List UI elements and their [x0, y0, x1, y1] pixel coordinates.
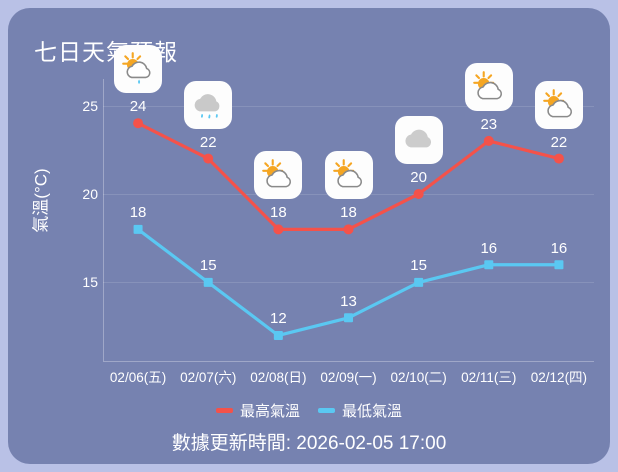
sun-cloud-icon — [465, 63, 513, 111]
point-value-label: 12 — [270, 310, 287, 327]
point-value-label: 22 — [200, 134, 217, 151]
sun-cloud-rain-icon — [114, 45, 162, 93]
data-point-marker[interactable] — [133, 118, 143, 128]
point-value-label: 20 — [410, 169, 427, 186]
legend-item[interactable]: 最低氣溫 — [318, 400, 402, 421]
point-value-label: 16 — [480, 240, 497, 257]
data-point-marker[interactable] — [344, 224, 354, 234]
x-axis-tick-label: 02/06(五) — [110, 366, 166, 386]
line-swatch-icon — [318, 408, 335, 413]
data-point-marker[interactable] — [414, 278, 423, 287]
data-point-marker[interactable] — [484, 136, 494, 146]
x-axis-tick-label: 02/10(二) — [391, 366, 447, 386]
x-axis-ticks: 02/06(五)02/07(六)02/08(日)02/09(一)02/10(二)… — [103, 366, 610, 388]
data-point-marker[interactable] — [554, 260, 563, 269]
data-point-marker[interactable] — [344, 313, 353, 322]
data-point-marker[interactable] — [204, 278, 213, 287]
data-point-marker[interactable] — [274, 331, 283, 340]
data-point-marker[interactable] — [134, 225, 143, 234]
legend-label: 最低氣溫 — [342, 400, 402, 421]
x-axis-tick-label: 02/12(四) — [531, 366, 587, 386]
sun-cloud-icon — [254, 151, 302, 199]
point-value-label: 13 — [340, 293, 357, 310]
point-value-label: 23 — [480, 116, 497, 133]
chart-plot: 氣溫(°C) 152025 — [8, 8, 610, 464]
data-point-marker[interactable] — [484, 260, 493, 269]
x-axis-tick-label: 02/11(三) — [461, 366, 516, 386]
point-value-label: 15 — [410, 257, 427, 274]
sun-cloud-icon — [325, 151, 373, 199]
rain-cloud-icon — [184, 81, 232, 129]
point-value-label: 22 — [551, 134, 568, 151]
data-point-marker[interactable] — [273, 224, 283, 234]
point-value-label: 18 — [340, 204, 357, 221]
point-value-label: 18 — [130, 204, 147, 221]
point-value-label: 24 — [130, 98, 147, 115]
legend-label: 最高氣溫 — [240, 400, 300, 421]
chart-legend: 最高氣溫最低氣溫 — [8, 400, 610, 421]
x-axis-tick-label: 02/09(一) — [320, 366, 376, 386]
x-axis-tick-label: 02/08(日) — [250, 366, 306, 386]
point-value-label: 18 — [270, 204, 287, 221]
legend-item[interactable]: 最高氣溫 — [216, 400, 300, 421]
sun-cloud-icon — [535, 81, 583, 129]
series-lines — [8, 8, 610, 464]
data-point-marker[interactable] — [203, 154, 213, 164]
data-point-marker[interactable] — [414, 189, 424, 199]
point-value-label: 16 — [551, 240, 568, 257]
point-value-label: 15 — [200, 257, 217, 274]
update-time-text: 數據更新時間: 2026-02-05 17:00 — [8, 428, 610, 455]
forecast-card: 七日天氣預報 氣溫(°C) 152025 — [8, 8, 610, 464]
data-point-marker[interactable] — [554, 154, 564, 164]
cloud-icon — [395, 116, 443, 164]
x-axis-tick-label: 02/07(六) — [180, 366, 236, 386]
line-swatch-icon — [216, 408, 233, 413]
